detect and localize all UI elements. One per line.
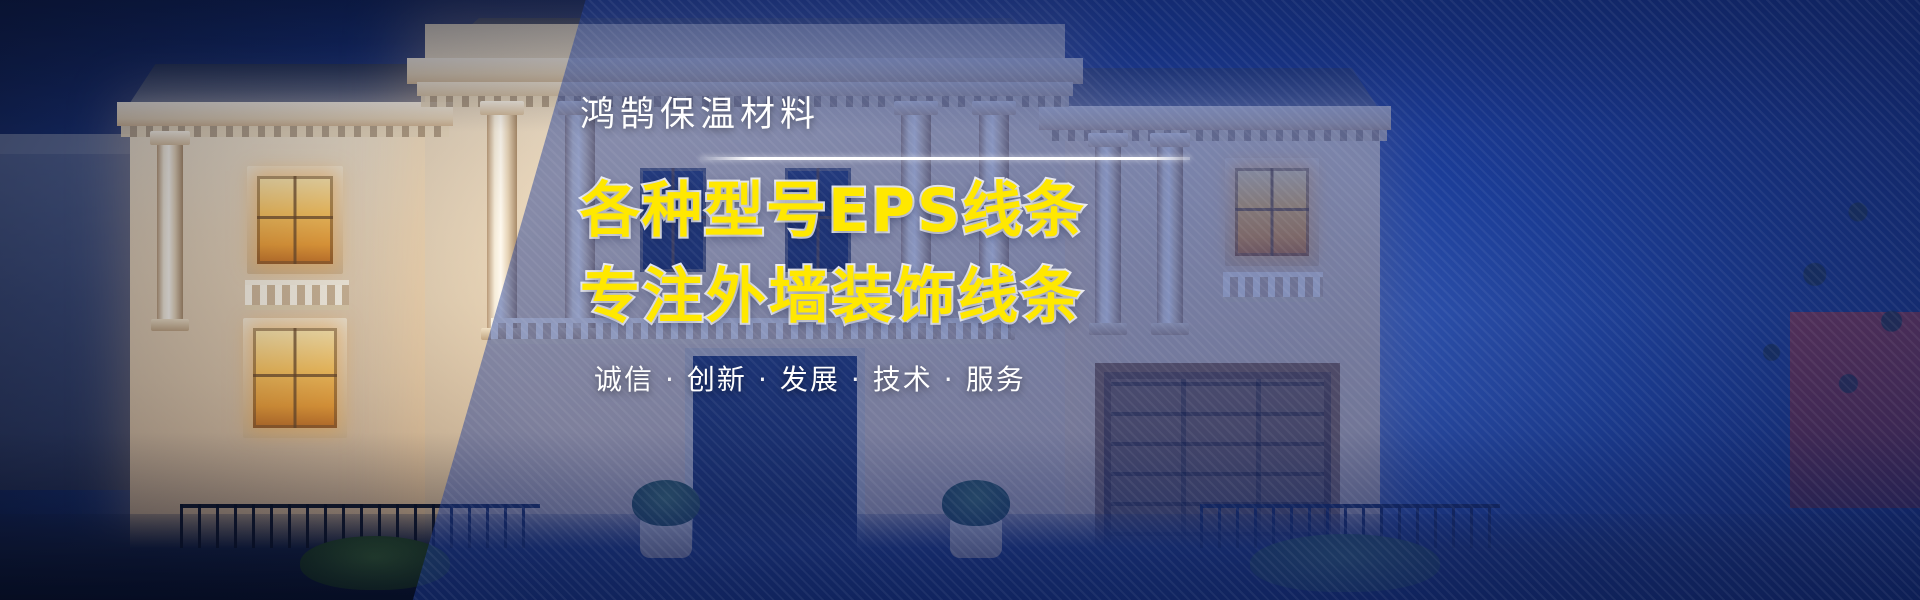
tagline-item-4: 技术 bbox=[873, 363, 933, 396]
headline-line-1: 各种型号EPS线条 bbox=[580, 176, 1220, 246]
tagline-separator-2: · bbox=[758, 363, 769, 396]
brand-name: 鸿鹄保温材料 bbox=[580, 96, 1220, 135]
tagline-item-5: 服务 bbox=[966, 363, 1026, 396]
tagline-item-2: 创新 bbox=[687, 363, 747, 396]
tagline-separator-3: · bbox=[851, 363, 862, 396]
tagline-item-3: 发展 bbox=[780, 363, 840, 396]
headline-line-2: 专注外墙装饰线条 bbox=[580, 262, 1220, 332]
tagline-item-1: 诚信 bbox=[594, 363, 654, 396]
promo-banner: 鸿鹄保温材料 各种型号EPS线条 专注外墙装饰线条 诚信·创新·发展·技术·服务 bbox=[0, 0, 1920, 600]
tagline-separator-4: · bbox=[944, 363, 955, 396]
title-divider bbox=[700, 157, 1190, 160]
tagline-separator-1: · bbox=[665, 363, 676, 396]
banner-text-block: 鸿鹄保温材料 各种型号EPS线条 专注外墙装饰线条 诚信·创新·发展·技术·服务 bbox=[580, 96, 1220, 398]
tagline: 诚信·创新·发展·技术·服务 bbox=[594, 358, 1220, 398]
